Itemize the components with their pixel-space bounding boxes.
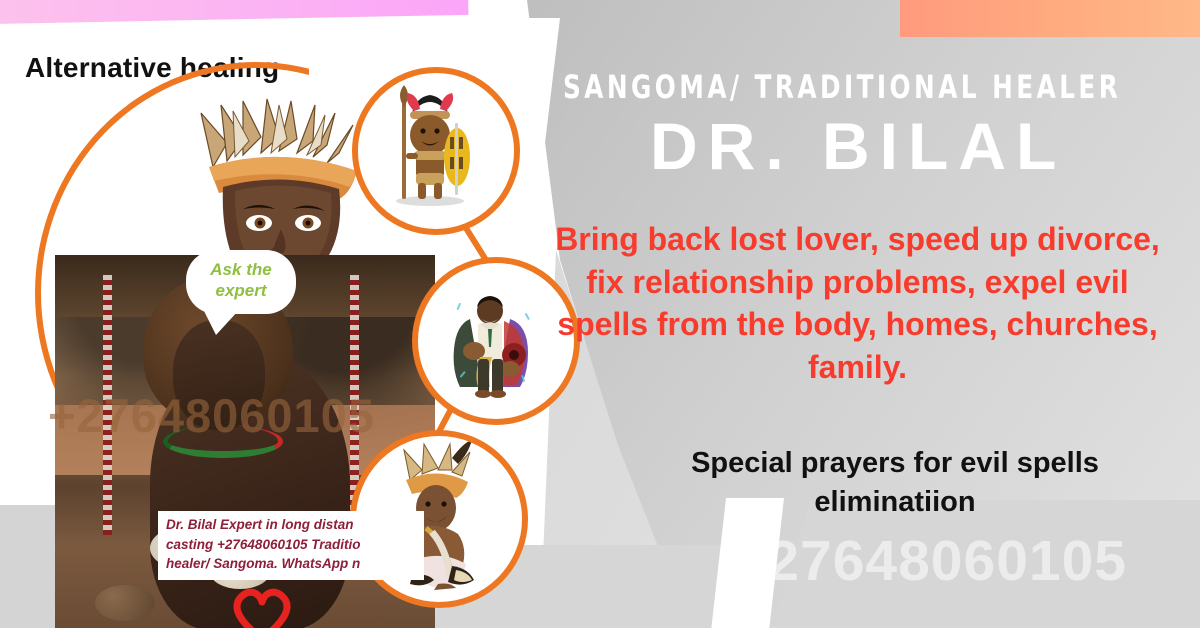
red-heart-icon (230, 585, 294, 628)
kicker-text: SANGOMA/ TRADITIONAL HEALER (563, 68, 1096, 106)
photo-watermark-phone: +27648060105 (48, 388, 375, 443)
orange-accent-bar (900, 0, 1200, 37)
caption-line-1: Dr. Bilal Expert in long distan (166, 515, 416, 535)
speech-bubble: Ask the expert (186, 250, 296, 314)
services-text: Bring back lost lover, speed up divorce,… (545, 218, 1170, 388)
special-prayers-text: Special prayers for evil spells eliminat… (615, 444, 1175, 522)
circle-zulu-warrior (352, 67, 520, 235)
traditional-healer-icon (418, 263, 562, 407)
healer-name: DR. BILAL (650, 108, 1066, 184)
speech-bubble-text: Ask the expert (186, 259, 296, 302)
zulu-warrior-icon (358, 73, 502, 217)
photo-caption: Dr. Bilal Expert in long distan casting … (158, 511, 424, 580)
ghost-phone-number: +27648060105 (660, 528, 1200, 594)
caption-line-3: healer/ Sangoma. WhatsApp n (166, 554, 416, 574)
poster-canvas: Alternative healing (0, 0, 1200, 628)
caption-line-2: casting +27648060105 Traditio (166, 535, 416, 555)
